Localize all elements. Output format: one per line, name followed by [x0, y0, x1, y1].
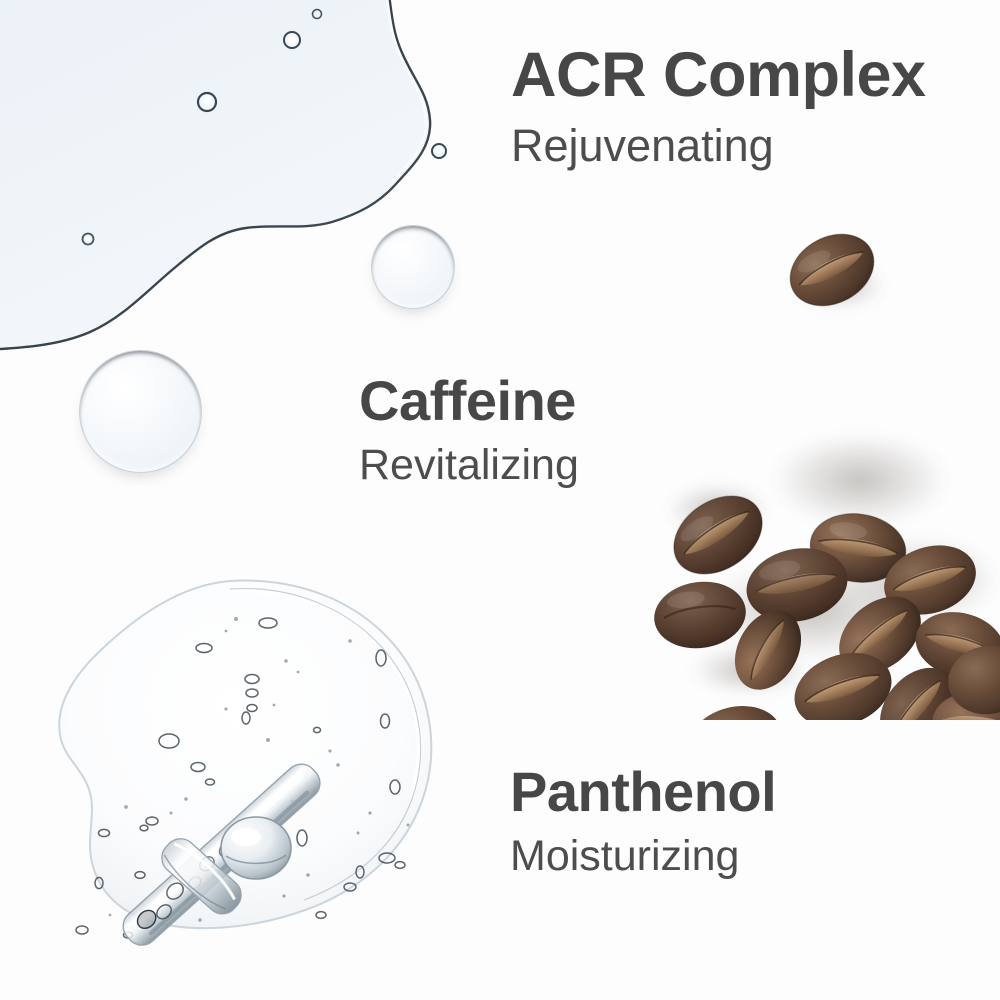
coffee-bean [784, 640, 902, 720]
gel-bubbles [76, 618, 405, 938]
clear-gel-blob [40, 575, 460, 975]
coffee-bean [722, 599, 814, 701]
glass-dropper-pipette [60, 735, 360, 1000]
serum-droplet-small [371, 225, 455, 309]
coffee-bean [929, 687, 1000, 720]
ingredient-subtitle: Revitalizing [359, 444, 579, 487]
coffee-bean [909, 603, 1000, 687]
serum-droplet-large [79, 350, 202, 473]
gel-microbubbles [109, 617, 410, 922]
coffee-bean [778, 220, 887, 320]
ingredient-title: Caffeine [359, 373, 579, 429]
ingredient-title: Panthenol [510, 764, 776, 820]
serum-puddle [0, 0, 480, 390]
infographic-canvas: ACR Complex Rejuvenating Caffeine Revita… [0, 0, 1000, 1000]
coffee-bean [824, 581, 936, 689]
ingredient-subtitle: Moisturizing [510, 835, 776, 878]
coffee-bean [681, 697, 788, 720]
coffee-bean [806, 508, 911, 589]
coffee-bean [943, 640, 1000, 720]
ingredient-subtitle: Rejuvenating [511, 123, 926, 168]
coffee-bean [740, 539, 855, 631]
ingredient-label-caffeine: Caffeine Revitalizing [359, 373, 579, 487]
ingredient-label-panthenol: Panthenol Moisturizing [510, 764, 776, 878]
coffee-bean-cluster [600, 180, 1000, 720]
coffee-bean [659, 480, 777, 590]
coffee-bean [875, 534, 985, 626]
ingredient-label-acr-complex: ACR Complex Rejuvenating [511, 44, 926, 168]
coffee-bean [865, 653, 972, 720]
coffee-bean [650, 576, 750, 654]
serum-bubbles [83, 10, 447, 245]
ingredient-title: ACR Complex [511, 44, 926, 107]
